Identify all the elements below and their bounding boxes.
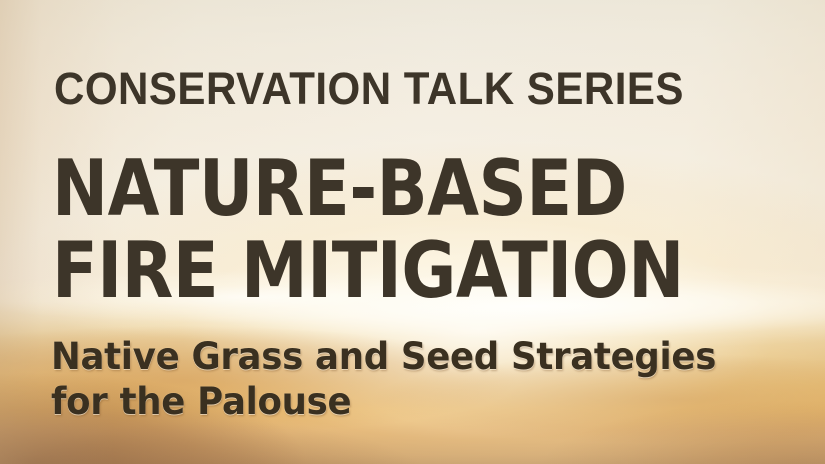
subheadline: Native Grass and Seed Strategies for the… <box>51 334 716 424</box>
subheadline-line-2: for the Palouse <box>51 379 716 424</box>
headline-line-2: FIRE MITIGATION <box>52 232 684 310</box>
conservation-talk-banner: CONSERVATION TALK SERIES NATURE-BASED FI… <box>0 0 825 464</box>
banner-text-block: CONSERVATION TALK SERIES NATURE-BASED FI… <box>0 0 825 464</box>
series-eyebrow-label: CONSERVATION TALK SERIES <box>54 66 684 111</box>
subheadline-line-1: Native Grass and Seed Strategies <box>51 334 716 379</box>
headline-line-1: NATURE-BASED <box>52 150 627 228</box>
